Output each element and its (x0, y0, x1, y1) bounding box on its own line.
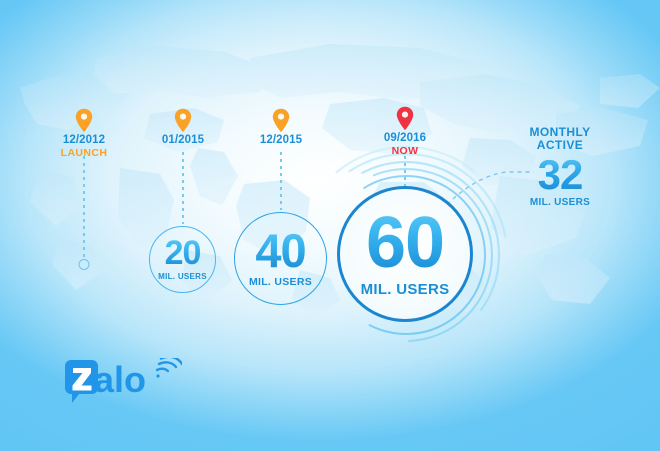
stat-label: MIL. USERS (158, 272, 207, 281)
stat-value: 60 (366, 210, 444, 276)
map-pin-icon (75, 108, 93, 133)
map-pin-icon (272, 108, 290, 133)
stat-circle-40[interactable]: 40 MIL. USERS (234, 212, 327, 305)
timeline-endpoint-ring (79, 259, 90, 270)
monthly-active-block: MONTHLY ACTIVE 32 MIL. USERS (505, 126, 615, 208)
logo-wordmark: alo (94, 359, 146, 400)
monthly-active-label: MIL. USERS (505, 197, 615, 208)
infographic-canvas: 12/2012 LAUNCH 01/2015 12/2015 09/2016 N… (0, 0, 660, 451)
milestone-date: 09/2016 (384, 132, 426, 144)
stat-label: MIL. USERS (249, 276, 312, 288)
milestone-2016-now[interactable]: 09/2016 NOW (365, 106, 445, 136)
stat-circle-20[interactable]: 20 MIL. USERS (149, 226, 216, 293)
map-pin-icon (174, 108, 192, 133)
timeline-dotted-line (182, 152, 184, 224)
milestone-date: 12/2015 (260, 134, 302, 146)
milestone-2012[interactable]: 12/2012 LAUNCH (44, 108, 124, 138)
zalo-logo[interactable]: alo (62, 358, 182, 414)
stat-value: 40 (255, 229, 305, 272)
stat-label: MIL. USERS (361, 281, 450, 298)
milestone-2015-12[interactable]: 12/2015 (241, 108, 321, 138)
stat-value: 20 (165, 238, 201, 269)
timeline-dotted-line (83, 156, 85, 260)
milestone-2015-01[interactable]: 01/2015 (143, 108, 223, 138)
timeline-dotted-line (280, 152, 282, 210)
map-pin-icon (396, 106, 414, 131)
milestone-date: 01/2015 (162, 134, 204, 146)
monthly-active-value: 32 (505, 154, 615, 196)
timeline-dotted-line (404, 156, 406, 188)
milestone-date: 12/2012 (63, 134, 105, 146)
stat-circle-60[interactable]: 60 MIL. USERS (337, 186, 473, 322)
